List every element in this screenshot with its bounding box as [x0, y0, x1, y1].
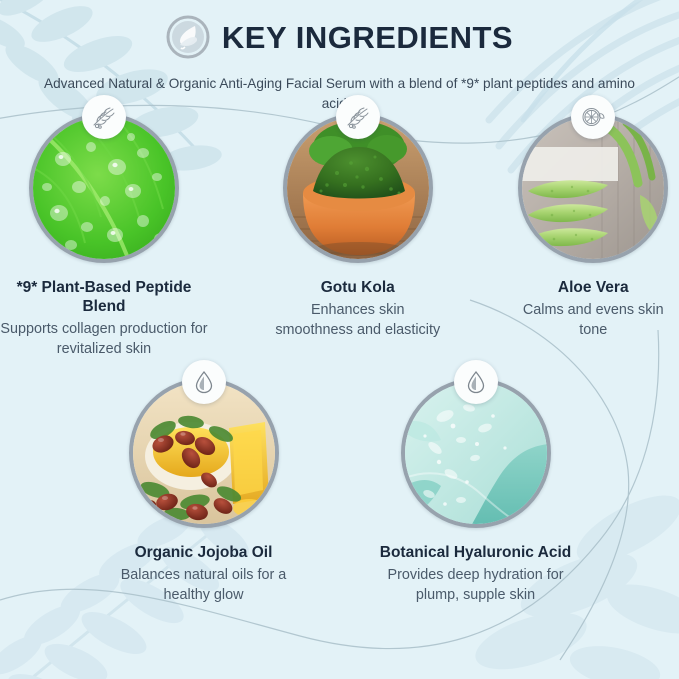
page-title: KEY INGREDIENTS — [222, 22, 513, 53]
ingredient-title: Gotu Kola — [321, 278, 395, 297]
ingredient-description: Enhances skin smoothness and elasticity — [272, 300, 444, 340]
ingredient-title: *9* Plant-Based Peptide Blend — [0, 278, 210, 316]
ingredient-row-1: *9* Plant-Based Peptide Blend Supports c… — [0, 113, 679, 359]
ingredient-description: Calms and evens skin tone — [508, 300, 679, 340]
ingredient-card-jojoba-oil[interactable]: Organic Jojoba Oil Balances natural oils… — [100, 378, 308, 605]
ingredient-card-hyaluronic-acid[interactable]: Botanical Hyaluronic Acid Provides deep … — [372, 378, 580, 605]
ingredient-description: Provides deep hydration for plump, suppl… — [372, 565, 580, 605]
ingredient-description: Supports collagen production for revital… — [0, 319, 210, 359]
water-droplet-icon — [454, 360, 498, 404]
ingredient-title: Aloe Vera — [558, 278, 629, 297]
ingredient-title: Botanical Hyaluronic Acid — [380, 543, 572, 562]
infographic-canvas: KEY INGREDIENTS Advanced Natural & Organ… — [0, 0, 679, 679]
water-droplet-icon — [182, 360, 226, 404]
ingredient-card-peptide-blend[interactable]: *9* Plant-Based Peptide Blend Supports c… — [0, 113, 208, 359]
ingredient-row-2: Organic Jojoba Oil Balances natural oils… — [0, 378, 679, 605]
sprig-leaf-icon — [336, 95, 380, 139]
ingredient-description: Balances natural oils for a healthy glow — [100, 565, 308, 605]
ingredient-card-aloe-vera[interactable]: Aloe Vera Calms and evens skin tone — [508, 113, 679, 359]
leaf-droplet-emblem-icon — [166, 15, 210, 59]
citrus-slice-icon — [571, 95, 615, 139]
sprig-leaf-icon — [82, 95, 126, 139]
ingredient-card-gotu-kola[interactable]: Gotu Kola Enhances skin smoothness and e… — [272, 113, 444, 359]
ingredient-title: Organic Jojoba Oil — [135, 543, 273, 562]
